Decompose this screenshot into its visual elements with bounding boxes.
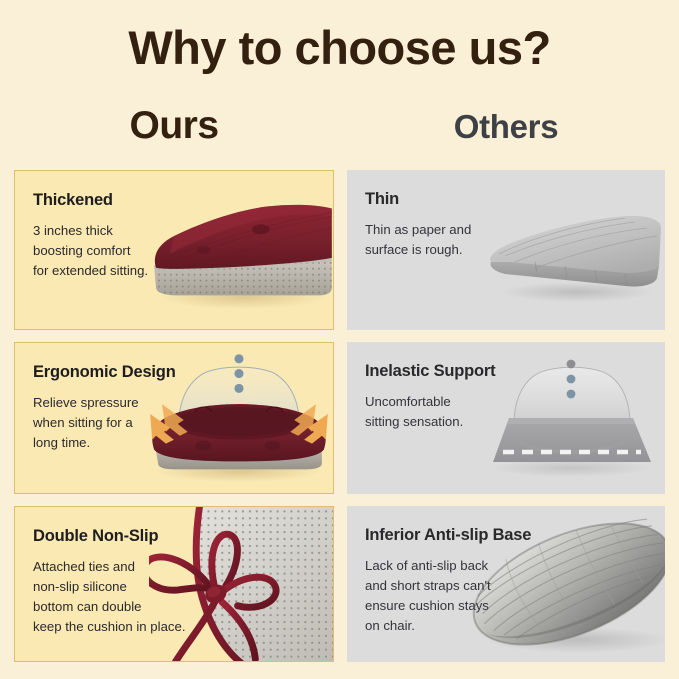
card-others-thin: Thin Thin as paper and surface is rough.	[347, 170, 665, 330]
card-body: 3 inches thick boosting comfort for exte…	[33, 221, 211, 281]
card-body-line: surface is rough.	[365, 240, 543, 260]
card-body: Uncomfortable sitting sensation.	[365, 392, 543, 432]
card-body: Relieve spressure when sitting for a lon…	[33, 393, 211, 453]
card-body-line: Relieve spressure	[33, 393, 211, 413]
comparison-grid: Thickened 3 inches thick boosting comfor…	[14, 170, 665, 662]
card-ours-ergonomic-design: Ergonomic Design Relieve spressure when …	[14, 342, 334, 494]
card-body-line: Lack of anti-slip back	[365, 556, 543, 576]
card-body-line: Thin as paper and	[365, 220, 543, 240]
card-body-line: and short straps can't	[365, 576, 543, 596]
card-title: Double Non-Slip	[33, 527, 211, 546]
card-body-line: non-slip silicone	[33, 577, 211, 597]
card-text-block: Inelastic Support Uncomfortable sitting …	[365, 362, 543, 432]
card-others-inelastic-support: Inelastic Support Uncomfortable sitting …	[347, 342, 665, 494]
card-title: Inelastic Support	[365, 362, 543, 381]
column-header-ours: Ours	[14, 104, 334, 148]
column-header-others: Others	[347, 108, 665, 146]
column-headers: Ours Others	[0, 104, 679, 156]
card-body-line: when sitting for a	[33, 413, 211, 433]
card-body-line: ensure cushion stays	[365, 596, 543, 616]
card-body-line: for extended sitting.	[33, 261, 211, 281]
card-body: Thin as paper and surface is rough.	[365, 220, 543, 260]
card-body-line: boosting comfort	[33, 241, 211, 261]
page-title: Why to choose us?	[0, 23, 679, 72]
card-title: Ergonomic Design	[33, 363, 211, 382]
card-title: Thickened	[33, 191, 211, 210]
card-body: Lack of anti-slip back and short straps …	[365, 556, 543, 636]
card-body-line: keep the cushion in place.	[33, 617, 211, 637]
card-body-line: on chair.	[365, 616, 543, 636]
card-ours-double-non-slip: Double Non-Slip Attached ties and non-sl…	[14, 506, 334, 662]
card-body: Attached ties and non-slip silicone bott…	[33, 557, 211, 637]
card-body-line: bottom can double	[33, 597, 211, 617]
card-text-block: Inferior Anti-slip Base Lack of anti-sli…	[365, 526, 543, 636]
card-body-line: Attached ties and	[33, 557, 211, 577]
card-title: Thin	[365, 190, 543, 209]
card-body-line: sitting sensation.	[365, 412, 543, 432]
card-text-block: Ergonomic Design Relieve spressure when …	[33, 363, 211, 453]
card-others-inferior-anti-slip-base: Inferior Anti-slip Base Lack of anti-sli…	[347, 506, 665, 662]
card-body-line: Uncomfortable	[365, 392, 543, 412]
card-body-line: 3 inches thick	[33, 221, 211, 241]
card-text-block: Thin Thin as paper and surface is rough.	[365, 190, 543, 260]
comparison-infographic: Why to choose us? Ours Others Thickened …	[0, 0, 679, 679]
pressure-dots	[234, 354, 243, 393]
pressure-dots	[567, 360, 576, 399]
card-text-block: Double Non-Slip Attached ties and non-sl…	[33, 527, 211, 637]
card-ours-thickened: Thickened 3 inches thick boosting comfor…	[14, 170, 334, 330]
card-text-block: Thickened 3 inches thick boosting comfor…	[33, 191, 211, 281]
card-body-line: long time.	[33, 433, 211, 453]
card-title: Inferior Anti-slip Base	[365, 526, 543, 545]
